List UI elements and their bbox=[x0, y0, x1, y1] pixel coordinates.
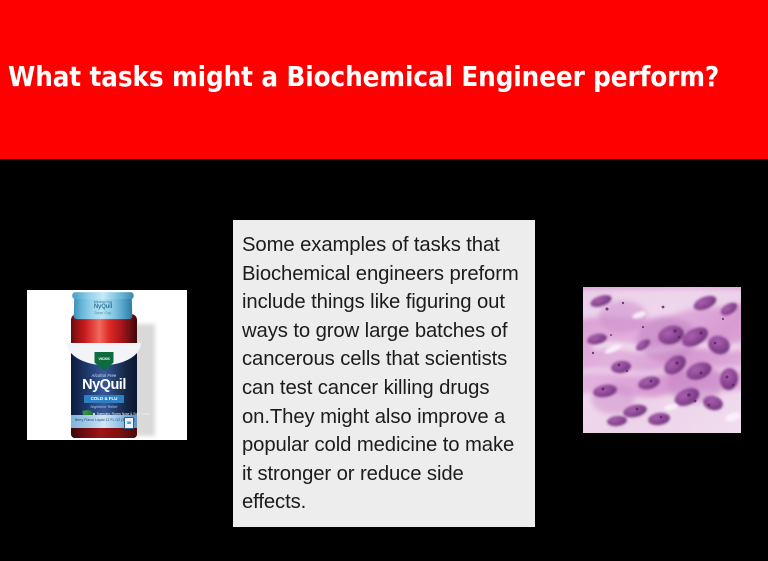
bottle-cap: Measuring NyQuil Dose Cup bbox=[74, 294, 133, 319]
nyquil-bottle-image: VICKS Alcohol Free NyQuil COLD & FLU Nig… bbox=[27, 290, 187, 440]
vicks-shield-icon: VICKS bbox=[95, 352, 114, 371]
cap-wordmark: NyQuil bbox=[74, 304, 132, 310]
bottle-body: VICKS Alcohol Free NyQuil COLD & FLU Nig… bbox=[71, 314, 137, 438]
body-text-box: Some examples of tasks that Biochemical … bbox=[233, 220, 535, 527]
slide-canvas: What tasks might a Biochemical Engineer … bbox=[0, 0, 768, 561]
vicks-shield-label: VICKS bbox=[95, 356, 114, 361]
bottle-label: VICKS Alcohol Free NyQuil COLD & FLU Nig… bbox=[71, 352, 137, 428]
body-text: Some examples of tasks that Biochemical … bbox=[242, 231, 527, 517]
page-title: What tasks might a Biochemical Engineer … bbox=[8, 60, 764, 94]
dose-mark-label: 30 bbox=[125, 420, 133, 425]
cap-rim bbox=[72, 292, 134, 299]
dose-mark-box: 30 bbox=[124, 417, 134, 429]
title-banner: What tasks might a Biochemical Engineer … bbox=[0, 0, 768, 159]
histology-canvas bbox=[583, 287, 741, 433]
nyquil-wordmark: NyQuil bbox=[71, 378, 137, 393]
subline-label: Nighttime Relief bbox=[71, 405, 137, 409]
variant-label: COLD & FLU bbox=[84, 396, 124, 401]
cap-bottom-label: Dose Cup bbox=[74, 311, 132, 315]
histology-cells-image bbox=[583, 287, 741, 433]
label-footer-band: Berry Flavor Liquid 12 FL OZ (354 mL) 30 bbox=[71, 415, 137, 428]
variant-bar: COLD & FLU bbox=[84, 395, 124, 403]
